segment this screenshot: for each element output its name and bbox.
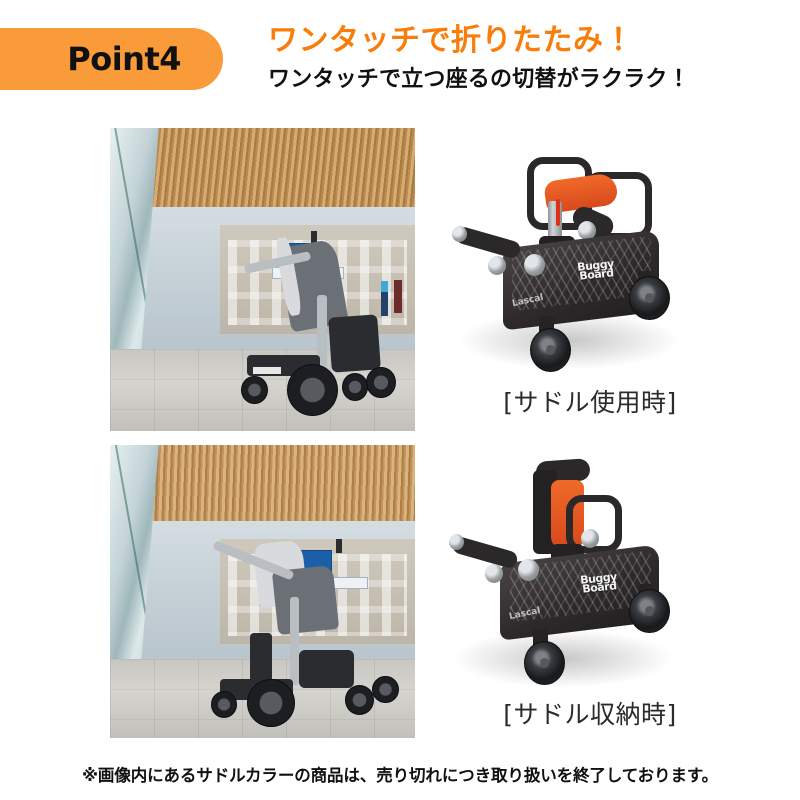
connector-axle-knob	[485, 564, 503, 583]
headline-block: ワンタッチで折りたたみ！ ワンタッチで立つ座るの切替がラクラク！	[268, 24, 768, 94]
station-sign-white-2	[333, 577, 369, 589]
deck-adjust-knob	[524, 254, 545, 276]
lifestyle-photo-saddle-in-use	[110, 128, 415, 431]
product-photo-saddle-in-use: Buggy Board Lascal	[440, 132, 740, 380]
stroller-wheel-rear	[287, 364, 338, 416]
pedestrian-far-1-top	[381, 281, 388, 292]
buggy-board-wheel	[211, 691, 237, 718]
caster-wheel-front	[524, 641, 565, 685]
pivot-knob	[581, 529, 599, 548]
lifestyle-photo-saddle-stowed	[110, 445, 415, 738]
footnote-sold-out-notice: ※画像内にあるサドルカラーの商品は、売り切れにつき取り扱いを終了しております。	[0, 762, 800, 786]
photo-scene	[110, 128, 415, 431]
caption-saddle-stowed: [サドル収納時]	[440, 700, 740, 730]
headline-secondary: ワンタッチで立つ座るの切替がラクラク！	[268, 66, 768, 94]
stroller-basket	[299, 650, 354, 688]
stroller-wheel-rear	[247, 679, 295, 726]
caption-saddle-in-use: [サドル使用時]	[440, 388, 740, 418]
speaker-box	[336, 539, 342, 554]
stroller-basket	[328, 314, 380, 372]
stroller-wheel-front	[366, 367, 395, 398]
saddle-release-button	[556, 199, 561, 226]
headline-primary: ワンタッチで折りたたみ！	[268, 24, 768, 58]
point-badge: Point4	[0, 28, 223, 90]
caster-wheel-front	[530, 328, 571, 372]
product-photo-saddle-stowed: Buggy Board Lascal	[440, 445, 740, 693]
buggy-board-brand-label	[253, 367, 280, 374]
photo-scene	[110, 445, 415, 738]
product-scene: Buggy Board Lascal	[440, 132, 740, 380]
point-badge-label: Point4	[67, 40, 181, 78]
page-header: Point4 ワンタッチで折りたたみ！ ワンタッチで立つ座るの切替がラクラク！	[0, 0, 800, 122]
caster-wheel-rear	[629, 276, 670, 320]
buggy-board-saddle-stowed	[250, 633, 271, 683]
connector-axle-knob	[488, 256, 506, 275]
stroller-frame-leg	[290, 597, 299, 685]
pedestrian-far-1	[381, 289, 388, 316]
caster-wheel-rear	[629, 589, 670, 633]
pedestrian-far-2	[394, 280, 402, 313]
product-scene: Buggy Board Lascal	[440, 445, 740, 693]
buggy-board-wheel	[241, 376, 267, 404]
stroller-wheel-mid	[372, 676, 398, 703]
